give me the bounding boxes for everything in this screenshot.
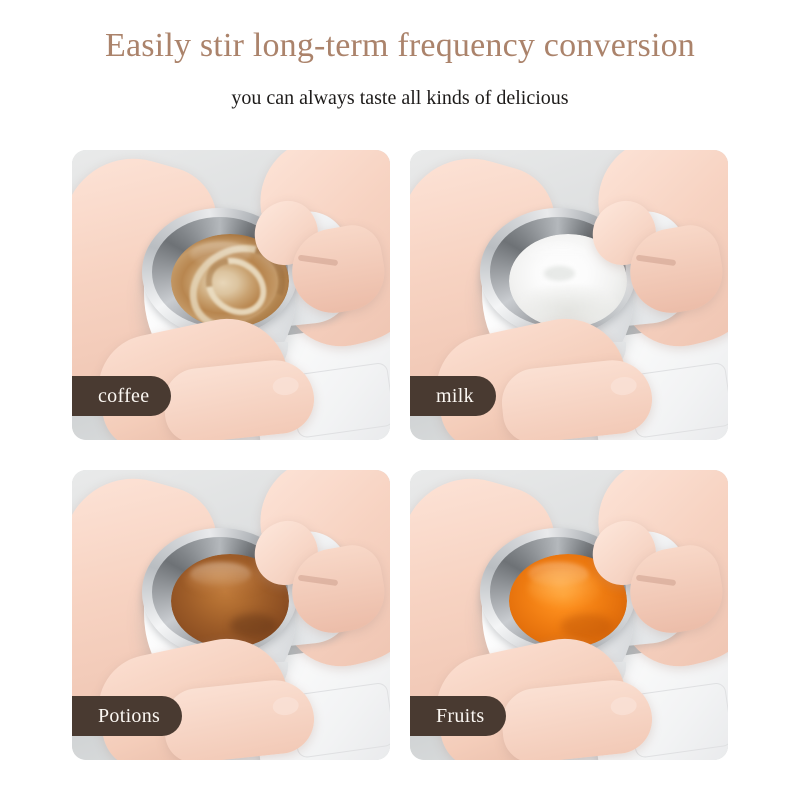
liquid-highlight [190,242,251,266]
gallery-card-milk[interactable]: milk [410,150,728,440]
tea-shadow [230,614,277,637]
page-subtitle: you can always taste all kinds of delici… [0,84,800,112]
juice-shadow [561,614,613,638]
liquid-highlight [190,562,251,586]
promo-header: Easily stir long-term frequency conversi… [0,0,800,112]
card-label-potions: Potions [72,696,182,736]
milk-froth-spot [544,266,575,281]
page-title: Easily stir long-term frequency conversi… [0,24,800,68]
card-label-fruits: Fruits [410,696,506,736]
liquid-highlight [528,242,589,266]
gallery-card-fruits[interactable]: Fruits [410,470,728,760]
gallery-card-potions[interactable]: Potions [72,470,390,760]
milk-froth-band [518,285,617,323]
liquid-highlight [528,562,589,586]
gallery-card-coffee[interactable]: coffee [72,150,390,440]
card-label-milk: milk [410,376,496,416]
card-label-coffee: coffee [72,376,171,416]
product-photo-gallery: coffee [72,150,728,760]
